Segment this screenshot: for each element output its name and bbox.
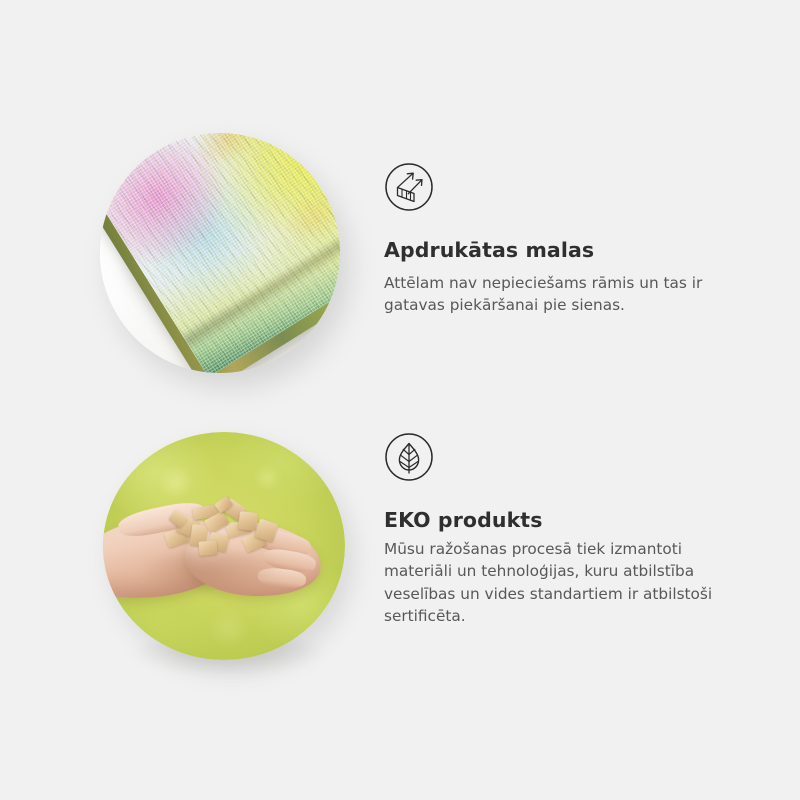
feature-title: EKO produkts xyxy=(384,508,754,533)
printed-edges-icon xyxy=(384,162,434,212)
feature-text-eco-product: EKO produkts Mūsu ražošanas procesā tiek… xyxy=(384,432,754,628)
leaf-icon xyxy=(384,432,434,482)
wood-chips xyxy=(161,498,287,566)
feature-description: Attēlam nav nepieciešams rāmis un tas ir… xyxy=(384,272,740,317)
hands-holding-wood-chips-photo xyxy=(103,432,345,660)
product-features-page: Apdrukātas malas Attēlam nav nepieciešam… xyxy=(0,0,800,800)
feature-text-printed-edges: Apdrukātas malas Attēlam nav nepieciešam… xyxy=(384,162,754,317)
feature-description: Mūsu ražošanas procesā tiek izmantoti ma… xyxy=(384,538,740,629)
feature-block-eco-product: EKO produkts Mūsu ražošanas procesā tiek… xyxy=(0,410,800,700)
feature-title: Apdrukātas malas xyxy=(384,238,754,263)
canvas-corner-photo xyxy=(100,133,340,373)
feature-block-printed-edges: Apdrukātas malas Attēlam nav nepieciešam… xyxy=(0,110,800,400)
